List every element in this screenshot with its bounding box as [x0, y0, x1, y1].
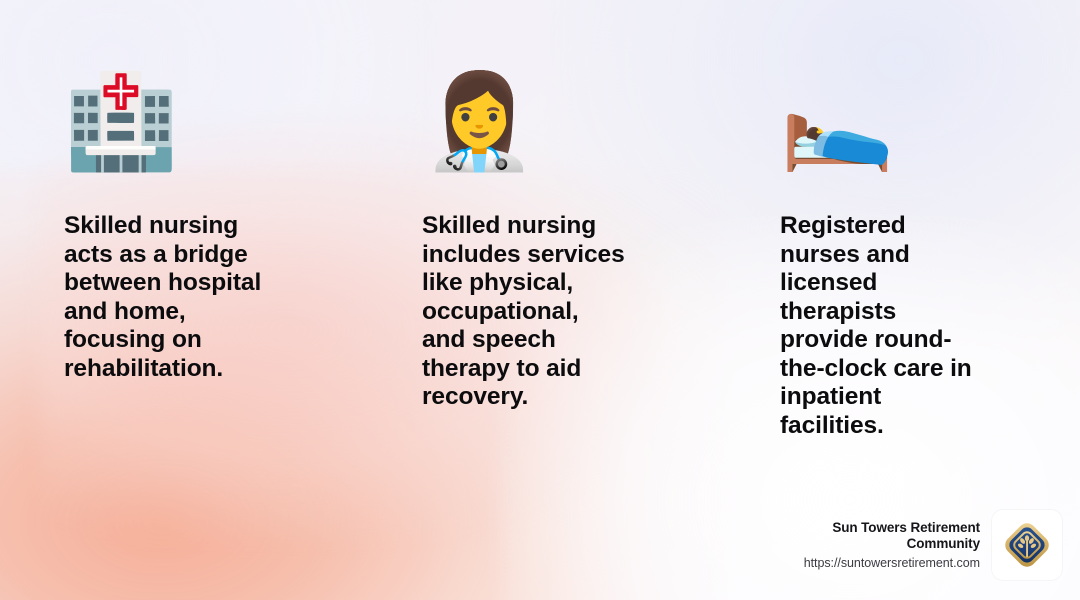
hospital-icon: 🏥 [64, 62, 314, 186]
info-column-3-text: Registered nurses and licensed therapist… [780, 212, 1030, 440]
sun-towers-diamond-logo [998, 516, 1056, 574]
brand-text-group: Sun Towers Retirement Community https://… [804, 520, 980, 569]
info-column-2: 👩‍⚕️ Skilled nursing includes services l… [422, 62, 672, 412]
woman-health-worker-icon: 👩‍⚕️ [422, 62, 672, 186]
brand-url[interactable]: https://suntowersretirement.com [804, 556, 980, 570]
infographic-canvas: 🏥 Skilled nursing acts as a bridge betwe… [0, 0, 1080, 600]
info-column-2-text: Skilled nursing includes services like p… [422, 212, 672, 412]
brand-footer: Sun Towers Retirement Community https://… [804, 510, 1062, 580]
info-column-1-text: Skilled nursing acts as a bridge between… [64, 212, 314, 383]
brand-logo-card [992, 510, 1062, 580]
brand-name: Sun Towers Retirement Community [804, 520, 980, 550]
person-in-bed-icon: 🛌 [780, 62, 1030, 186]
info-column-1: 🏥 Skilled nursing acts as a bridge betwe… [64, 62, 314, 383]
info-column-3: 🛌 Registered nurses and licensed therapi… [780, 62, 1030, 440]
